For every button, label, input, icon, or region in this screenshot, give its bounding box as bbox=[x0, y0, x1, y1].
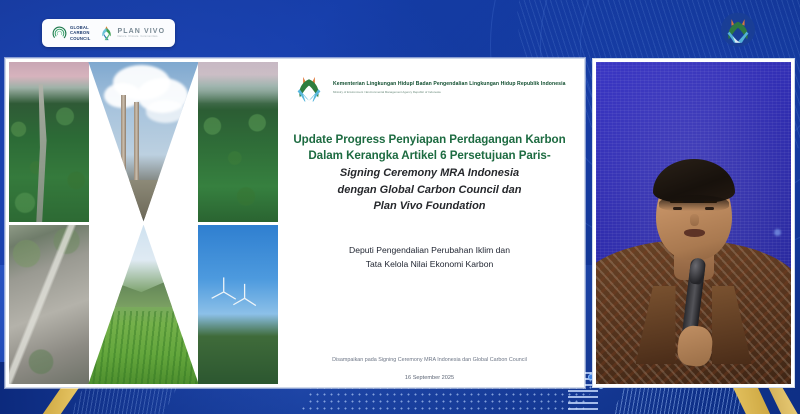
ministry-name-text: Kementerian Lingkungan Hidup/ Badan Peng… bbox=[333, 81, 566, 94]
presenter-line-2: Tata Kelola Nilai Ekonomi Karbon bbox=[285, 257, 574, 272]
presenter-hair bbox=[653, 159, 735, 203]
ministry-logo-block: Kementerian Lingkungan Hidup/ Badan Peng… bbox=[291, 71, 574, 105]
open-pit-mine-photo bbox=[9, 225, 89, 385]
slide-title-line-2: Dalam Kerangka Artikel 6 Persetujuan Par… bbox=[291, 148, 568, 164]
presenter-eye-left bbox=[673, 207, 682, 210]
presenter-mouth bbox=[684, 229, 705, 237]
forest-river-aerial-photo bbox=[9, 62, 89, 222]
slide-subtitle-line-2: dengan Global Carbon Council dan bbox=[291, 183, 568, 199]
global-carbon-council-lockup: GLOBAL CARBON COUNCIL bbox=[52, 25, 90, 40]
presenter-hand bbox=[676, 324, 714, 367]
gcc-line-3: COUNCIL bbox=[70, 36, 90, 41]
plan-vivo-lockup: PLAN VIVO Nature. Climate. Communities. bbox=[99, 25, 165, 41]
collage-band-upper bbox=[9, 62, 278, 222]
slide-footnote: Disampaikan pada Signing Ceremony MRA In… bbox=[285, 357, 574, 363]
slide-subtitle-line-3: Plan Vivo Foundation bbox=[291, 199, 568, 215]
plan-vivo-name: PLAN VIVO bbox=[117, 28, 165, 35]
plan-vivo-tagline: Nature. Climate. Communities. bbox=[117, 35, 165, 38]
ministry-of-environment-emblem bbox=[291, 71, 327, 105]
slide-presenter-block: Deputi Pengendalian Perubahan Iklim dan … bbox=[285, 243, 574, 272]
plan-vivo-wordmark: PLAN VIVO Nature. Climate. Communities. bbox=[117, 28, 165, 38]
presenter-with-microphone bbox=[596, 62, 791, 384]
slide-content: Kementerian Lingkungan Hidup/ Badan Peng… bbox=[281, 59, 584, 387]
presenter-eyebrow-left bbox=[670, 201, 683, 203]
ministry-name-id: Kementerian Lingkungan Hidup/ Badan Peng… bbox=[333, 81, 566, 88]
presenter-line-1: Deputi Pengendalian Perubahan Iklim dan bbox=[285, 243, 574, 258]
speaker-video-panel bbox=[592, 58, 795, 388]
ministry-name-en: Ministry of Environment / Environmental … bbox=[333, 91, 566, 95]
slide-title-block: Update Progress Penyiapan Perdagangan Ka… bbox=[285, 132, 574, 215]
presentation-slide: Kementerian Lingkungan Hidup/ Badan Peng… bbox=[5, 58, 585, 388]
green-hills-plantation-photo bbox=[88, 225, 198, 385]
speaker-video-feed bbox=[596, 62, 791, 384]
partner-logo-lockup: GLOBAL CARBON COUNCIL PLAN VIVO Nature. … bbox=[42, 19, 175, 47]
slide-subtitle-line-1: Signing Ceremony MRA Indonesia bbox=[291, 166, 568, 182]
tropical-forest-canopy-photo bbox=[198, 62, 278, 222]
ministry-emblem-corner bbox=[718, 10, 758, 48]
industrial-smokestacks-photo bbox=[88, 62, 198, 222]
global-carbon-council-logo bbox=[52, 26, 67, 41]
wind-turbines-photo bbox=[198, 225, 278, 385]
presenter-eyebrow-right bbox=[704, 201, 717, 203]
presenter-eye-right bbox=[705, 207, 714, 210]
slide-image-collage bbox=[6, 59, 281, 387]
collage-band-lower bbox=[9, 225, 278, 385]
presenter-nose bbox=[690, 214, 699, 226]
plan-vivo-logo bbox=[99, 25, 114, 41]
slide-title-line-1: Update Progress Penyiapan Perdagangan Ka… bbox=[291, 132, 568, 148]
slide-footnote-block: Disampaikan pada Signing Ceremony MRA In… bbox=[285, 357, 574, 381]
global-carbon-council-wordmark: GLOBAL CARBON COUNCIL bbox=[70, 25, 90, 40]
slide-date: 16 September 2025 bbox=[285, 375, 574, 381]
